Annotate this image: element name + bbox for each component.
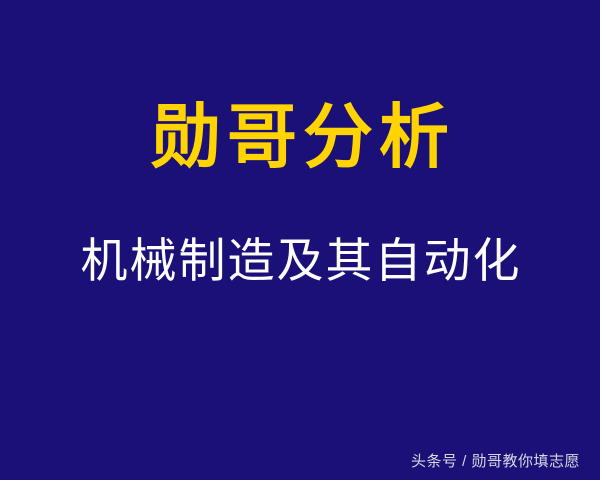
watermark-credit: 头条号 / 勋哥教你填志愿: [411, 452, 580, 472]
subtitle-block: 机械制造及其自动化: [0, 231, 600, 293]
title-block: 勋哥分析: [0, 96, 600, 182]
page-subtitle: 机械制造及其自动化: [0, 231, 600, 293]
slide-canvas: 勋哥分析 机械制造及其自动化 头条号 / 勋哥教你填志愿: [0, 0, 600, 480]
page-title: 勋哥分析: [0, 96, 600, 182]
